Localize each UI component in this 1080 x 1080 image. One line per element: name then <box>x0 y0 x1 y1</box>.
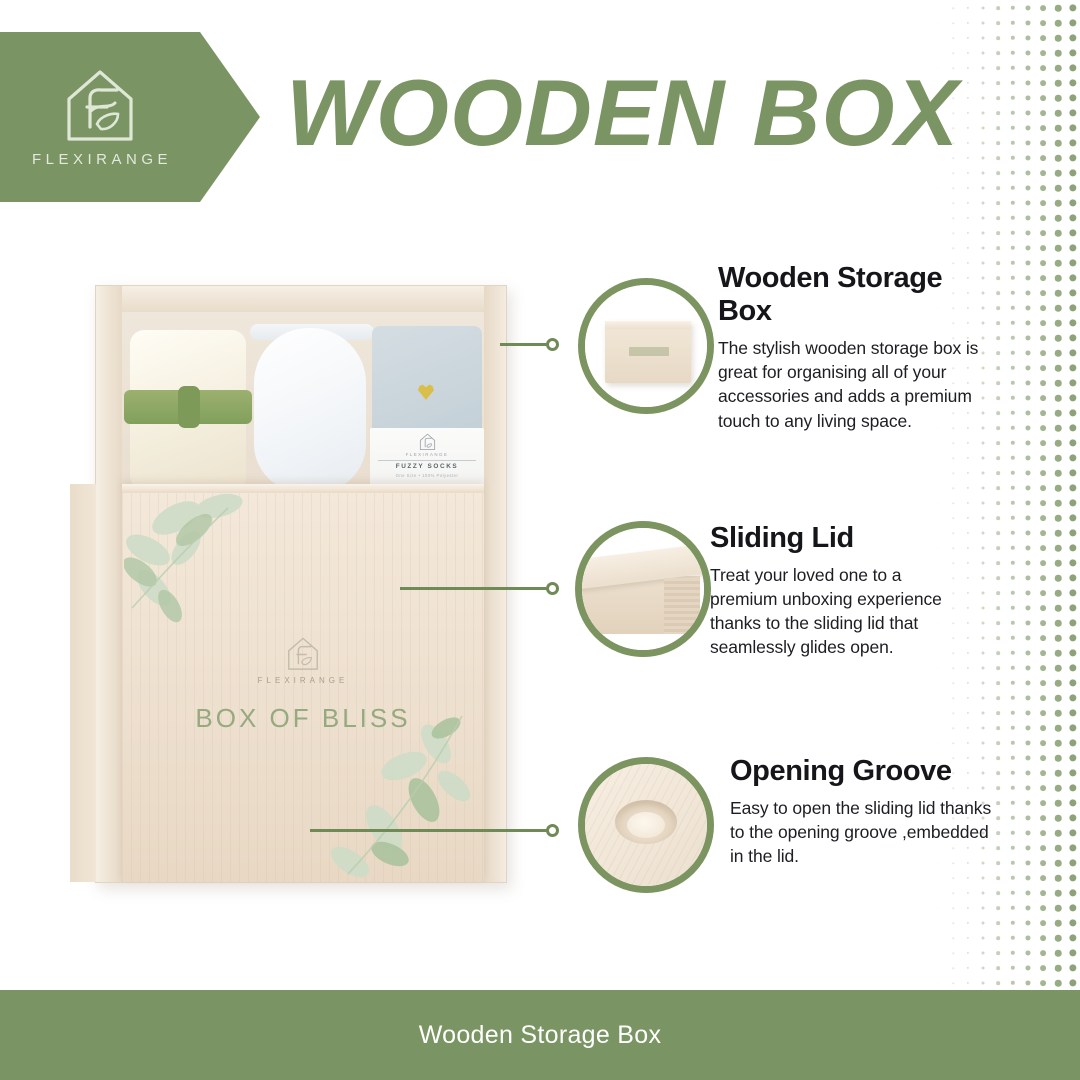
divider <box>378 460 476 461</box>
connector-endpoint-1 <box>546 338 559 351</box>
brand-name: FLEXIRANGE <box>28 151 172 168</box>
lid-title-text: BOX OF BLISS <box>195 703 410 734</box>
wood-surface <box>585 764 707 886</box>
brand-banner-arrow <box>200 32 260 202</box>
lid-left-overhang <box>70 484 96 882</box>
house-leaf-logo-icon <box>63 67 137 145</box>
footer-bar: Wooden Storage Box <box>0 990 1080 1080</box>
house-leaf-logo-icon <box>286 636 320 672</box>
connector-line-1 <box>500 343 548 346</box>
feature-thumb-opening-groove <box>578 757 714 893</box>
feature-body-2: Treat your loved one to a premium unboxi… <box>710 563 972 660</box>
feature-title-1: Wooden Storage Box <box>718 262 980 328</box>
brand-logo: FLEXIRANGE <box>0 32 200 202</box>
connector-endpoint-2 <box>546 582 559 595</box>
feature-block-3: Opening Groove Easy to open the sliding … <box>730 755 992 868</box>
connector-line-2 <box>400 587 548 590</box>
box-interior: FLEXIRANGE FUZZY SOCKS One Size • 100% P… <box>122 312 484 492</box>
house-leaf-logo-icon <box>419 433 436 451</box>
white-eye-mask <box>254 328 366 492</box>
feature-title-2: Sliding Lid <box>710 522 972 555</box>
leaf-decoration-bottom-right <box>328 708 488 888</box>
connector-line-3 <box>310 829 548 832</box>
box-rim-left <box>96 286 122 882</box>
connector-endpoint-3 <box>546 824 559 837</box>
box-rim-top <box>96 286 506 312</box>
feature-block-2: Sliding Lid Treat your loved one to a pr… <box>710 522 972 660</box>
product-photo: FLEXIRANGE FUZZY SOCKS One Size • 100% P… <box>95 285 515 885</box>
ribbon-knot <box>178 386 200 428</box>
socks-label-details: One Size • 100% Polyester <box>396 473 459 479</box>
footer-caption: Wooden Storage Box <box>419 1021 662 1050</box>
groove-highlight <box>627 812 665 838</box>
lid-top-edge <box>122 484 484 493</box>
feature-title-3: Opening Groove <box>730 755 992 788</box>
infographic-canvas: FLEXIRANGE WOODEN BOX <box>0 0 1080 1080</box>
socks-label: FLEXIRANGE FUZZY SOCKS One Size • 100% P… <box>370 428 484 492</box>
feature-thumb-sliding-lid <box>575 521 711 657</box>
lid-engraving: FLEXIRANGE BOX OF BLISS <box>122 636 484 734</box>
feature-body-1: The stylish wooden storage box is great … <box>718 336 980 433</box>
box-side-grooves <box>664 578 700 634</box>
feature-block-1: Wooden Storage Box The stylish wooden st… <box>718 262 980 433</box>
leaf-decoration-top-left <box>124 488 274 628</box>
wooden-box: FLEXIRANGE FUZZY SOCKS One Size • 100% P… <box>95 285 507 883</box>
sliding-lid: FLEXIRANGE BOX OF BLISS <box>122 484 484 882</box>
socks-label-title: FUZZY SOCKS <box>396 463 459 470</box>
socks-label-brand: FLEXIRANGE <box>406 452 449 457</box>
box-engraving <box>629 347 669 356</box>
box-rim-right <box>484 286 506 882</box>
feature-body-3: Easy to open the sliding lid thanks to t… <box>730 796 992 868</box>
feature-thumb-wooden-storage-box <box>578 278 714 414</box>
page-title: WOODEN BOX <box>286 66 959 160</box>
lid-brand-text: FLEXIRANGE <box>258 676 349 685</box>
